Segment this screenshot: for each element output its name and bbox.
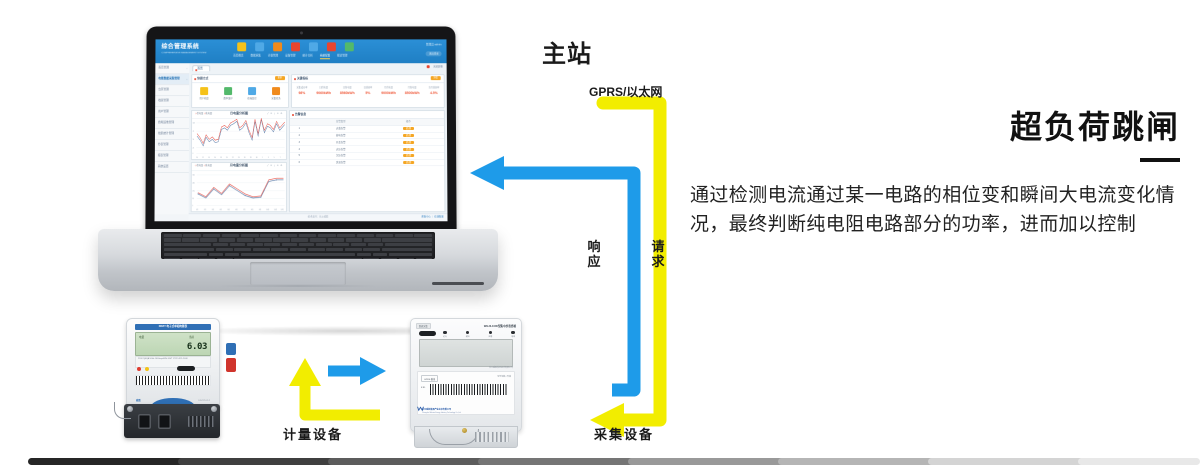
quick-action-3[interactable]: 采集任务 — [271, 87, 280, 100]
table-row[interactable]: 1过载告警处理 — [290, 125, 444, 132]
kpi-label-3: 日线损率 — [364, 87, 373, 90]
meter-cap-text: DDZY 电子式单相电能表 — [135, 324, 211, 330]
svg-text:28: 28 — [250, 157, 252, 159]
table-row[interactable]: 2掉电告警处理 — [290, 132, 444, 139]
keyboard-row — [161, 234, 435, 237]
svg-text:3月: 3月 — [212, 208, 215, 211]
sidebar-label-6: 线损统计管理 — [158, 132, 174, 135]
sidebar-label-4: 用户管理 — [158, 110, 169, 113]
meter-request-arrow-path — [305, 382, 380, 415]
meter-model: DDZY102-Z — [198, 400, 210, 402]
sidebar-item-8[interactable]: 报表管理 — [155, 151, 189, 162]
sidebar-item-2[interactable]: 台区管理 — [155, 85, 189, 96]
svg-text:10月: 10月 — [266, 208, 269, 211]
row-op-button-5[interactable]: 处理 — [403, 161, 414, 164]
metering-device-label: 计量设备 — [283, 424, 343, 443]
menu-item-4[interactable]: 统计分析 — [302, 54, 312, 59]
quick-card-more-button[interactable]: 更多 — [275, 76, 285, 80]
collector-seal-knob — [462, 428, 467, 433]
collector-barcode — [430, 384, 508, 395]
sidebar-label-7: 抄表管理 — [158, 143, 169, 146]
meter-leds — [137, 367, 149, 371]
row-no-2: 3 — [290, 139, 309, 146]
laptop-base — [98, 229, 498, 291]
dashboard-header: 综合管理系统 COMPREHENSIVE MANAGEMENT SYSTEM — [155, 39, 446, 63]
user-file-icon — [200, 87, 208, 95]
collector-label-plate: GPRS 模块 型号规格 / 合格 K ID 长沙威胜能源产业技术有限公司 Ch… — [417, 371, 515, 415]
kpi-2: 日售电量8560kWh — [340, 87, 355, 95]
kpi-0: 采集成功率98% — [296, 87, 307, 95]
tab-actions[interactable]: 关闭其他 — [427, 65, 443, 68]
dashboard-brand-sub: COMPREHENSIVE MANAGEMENT SYSTEM — [161, 52, 206, 55]
collector-body: 数据采集 WGJ3-1000型集中抄表终端 运行 通讯 告警 电源 长沙威胜信息… — [410, 318, 522, 432]
chart-icon — [248, 87, 256, 95]
phone-icon — [224, 87, 232, 95]
kpi-4: 月供电量9000kWh — [381, 87, 396, 95]
collector-ir-window — [419, 331, 436, 336]
bottom-bar-5 — [778, 458, 946, 465]
sidebar-item-7[interactable]: 抄表管理 — [155, 140, 189, 151]
quick-action-2[interactable]: 终端监控 — [247, 87, 256, 100]
row-op-3[interactable]: 处理 — [373, 146, 444, 153]
sidebar-item-0[interactable]: 首页管理‹ — [155, 63, 189, 74]
collection-device-label: 采集设备 — [594, 424, 654, 443]
row-op-0[interactable]: 处理 — [373, 125, 444, 132]
kpi-value-5: 8500kWh — [405, 91, 420, 95]
svg-text:25: 25 — [193, 147, 195, 149]
lcd-label-right: 当前 — [189, 335, 194, 339]
laptop-illustration: 综合管理系统 COMPREHENSIVE MANAGEMENT SYSTEM — [98, 26, 498, 316]
collector-terminal-block — [414, 426, 518, 448]
dashboard-menu[interactable]: 首页概览 数据采集 计量管理 设备管理 统计分析 系统配置 报表管理 — [233, 54, 347, 59]
close-icon[interactable] — [427, 65, 430, 68]
collector-company-sub: Changsha Wasion Energy Industry Technolo… — [422, 413, 461, 414]
svg-text:9月: 9月 — [259, 208, 262, 211]
master-station-label: 主站 — [542, 34, 592, 69]
bottom-bar-7 — [1078, 458, 1200, 465]
footer-right-links[interactable]: 帮助中心 ｜ 在线客服 — [421, 216, 443, 219]
row-op-button-2[interactable]: 处理 — [403, 141, 414, 144]
calendar-icon[interactable] — [273, 42, 282, 51]
kpi-label-5: 月售电量 — [405, 87, 420, 90]
laptop-screen: 综合管理系统 COMPREHENSIVE MANAGEMENT SYSTEM — [154, 39, 447, 221]
row-op-button-3[interactable]: 处理 — [403, 148, 414, 151]
svg-text:8月: 8月 — [251, 208, 254, 211]
headline-divider — [1140, 158, 1180, 162]
quick-label-2: 终端监控 — [247, 98, 256, 100]
collector-company: 长沙威胜能源产业技术有限公司 — [422, 408, 451, 411]
menu-item-2[interactable]: 计量管理 — [268, 54, 278, 59]
kpi-card-title: 关键指标 — [297, 77, 308, 80]
chart-daily-plot: 101214 161820 222426 28301 357 100 — [192, 118, 286, 159]
meter-request-arrowhead — [289, 358, 321, 386]
collector-cert-tag: 型号规格 / 合格 — [497, 375, 511, 378]
laptop-port — [432, 282, 484, 285]
footer-center-text: 技术支持：长沙威胜 — [308, 216, 329, 219]
row-no-0: 1 — [290, 125, 309, 132]
chevron-left-icon: ‹ — [186, 67, 187, 70]
quick-action-0[interactable]: 用户档案 — [200, 87, 209, 100]
collector-kd-text: K ID — [421, 387, 425, 389]
quick-label-1: 费率维护 — [223, 98, 232, 100]
kpi-value-0: 98% — [296, 91, 307, 95]
request-label: 请求 — [650, 240, 666, 269]
diagram-canvas: 综合管理系统 COMPREHENSIVE MANAGEMENT SYSTEM — [0, 0, 1200, 475]
dashboard-toolbar[interactable] — [237, 42, 354, 51]
quick-actions-card: 快捷方式 更多 用户档案 费率维护 终端监控 采集任务 — [191, 74, 289, 108]
sidebar-item-5[interactable]: 终端运维管理 — [155, 118, 189, 129]
svg-text:16: 16 — [214, 157, 216, 159]
chart-monthly-plot: 1月2月3月 4月5月6月 7月8月9月 10月11月12月 350260175 — [192, 170, 286, 211]
sidebar-item-3[interactable]: 档案管理 — [155, 96, 189, 107]
settings-icon[interactable] — [345, 42, 354, 51]
led-icon — [443, 331, 446, 334]
svg-text:260: 260 — [192, 182, 194, 184]
svg-text:5: 5 — [274, 157, 275, 159]
task-icon — [272, 87, 280, 95]
quick-actions-list[interactable]: 用户档案 费率维护 终端监控 采集任务 — [192, 83, 288, 100]
chart-daily-tools[interactable]: ⤢ ⟳ ⤓ ⊙ ⚙ — [267, 113, 283, 116]
chart-daily-svg: 101214 161820 222426 28301 357 100 — [192, 118, 286, 159]
svg-text:24: 24 — [238, 157, 240, 159]
dashboard-brand: 综合管理系统 — [161, 44, 199, 51]
alarm-card-header: 告警信息 — [290, 111, 444, 119]
bottom-gradient-bars — [0, 458, 1200, 465]
sidebar-label-8: 报表管理 — [158, 154, 169, 157]
led-icon — [511, 331, 514, 334]
indicator-label-0: 运行 — [443, 335, 447, 338]
dashboard-content: 快捷方式 更多 用户档案 费率维护 终端监控 采集任务 — [189, 72, 448, 214]
menu-item-6[interactable]: 报表管理 — [337, 54, 347, 59]
svg-text:18: 18 — [220, 157, 222, 159]
quick-label-3: 采集任务 — [271, 98, 280, 100]
bottom-bar-3 — [478, 458, 646, 465]
menu-item-0[interactable]: 首页概览 — [233, 54, 243, 59]
logout-button[interactable]: 退出登录 — [426, 51, 442, 56]
row-no-5: 6 — [290, 159, 309, 166]
svg-text:90: 90 — [192, 198, 194, 200]
collector-lcd-display — [419, 339, 513, 367]
gprs-module-tag: GPRS 模块 — [421, 375, 438, 382]
keyboard-row — [161, 243, 435, 246]
svg-text:7月: 7月 — [243, 208, 246, 211]
sidebar-item-9[interactable]: 系统设置 — [155, 162, 189, 173]
list-icon[interactable] — [291, 42, 300, 51]
mail-icon[interactable] — [327, 42, 336, 51]
headline-title: 超负荷跳闸 — [690, 110, 1180, 145]
laptop-trackpad — [250, 262, 346, 285]
svg-text:1: 1 — [262, 157, 263, 159]
indicator-2: 告警 — [488, 331, 492, 338]
indicator-1: 通讯 — [466, 331, 470, 338]
keyboard-row — [161, 253, 435, 256]
led-icon — [489, 331, 492, 334]
chart-monthly: ◇供电量 ◇售电量 月电量分析图 ⤢ ⟳ ⤓ ⊙ ⚙ — [191, 162, 287, 212]
dashboard-row-bottom: ◇供电量 ◇售电量 日电量分析图 ⤢ ⟳ ⤓ ⊙ ⚙ — [191, 110, 446, 212]
quick-card-title: 快捷方式 — [197, 77, 208, 80]
indicator-3: 电源 — [511, 331, 515, 338]
quick-label-0: 用户档案 — [200, 98, 209, 100]
meter-ir-window — [177, 366, 195, 371]
svg-text:1月: 1月 — [196, 208, 199, 211]
table-row[interactable]: 3开盖告警处理 — [290, 139, 444, 146]
collector-sub-text: 长沙威胜信息技术有限公司 — [489, 366, 513, 369]
sidebar-item-4[interactable]: 用户管理 — [155, 107, 189, 118]
svg-text:12: 12 — [202, 157, 204, 159]
svg-text:75: 75 — [193, 131, 195, 133]
laptop-lid: 综合管理系统 COMPREHENSIVE MANAGEMENT SYSTEM — [145, 26, 456, 234]
response-label: 响应 — [586, 240, 602, 269]
alarm-card-title: 告警信息 — [295, 113, 306, 116]
row-op-2[interactable]: 处理 — [373, 139, 444, 146]
kpi-label-0: 采集成功率 — [296, 87, 307, 90]
svg-text:50: 50 — [193, 139, 195, 141]
row-op-button-4[interactable]: 处理 — [403, 154, 414, 157]
collector-header: 数据采集 WGJ3-1000型集中抄表终端 — [416, 323, 516, 330]
meter-response-arrowhead — [360, 357, 386, 385]
meter-lcd-display: 电量 当前 6.03 — [135, 332, 211, 356]
indicator-0: 运行 — [443, 331, 447, 338]
row-op-button-0[interactable]: 处理 — [403, 127, 414, 130]
row-no-1: 2 — [290, 132, 309, 139]
kpi-label-6: 当月线损率 — [428, 87, 439, 90]
lcd-label-left: 电量 — [139, 335, 144, 339]
sidebar-label-9: 系统设置 — [158, 165, 169, 168]
svg-text:4月: 4月 — [220, 208, 223, 211]
alarm-table: 告警类型 操作 1过载告警处理 2掉电告警处理 3开盖告警处理 4过压告警处理 … — [290, 119, 444, 166]
svg-text:0: 0 — [192, 205, 193, 207]
row-type-0: 过载告警 — [309, 125, 373, 132]
keyboard-row — [161, 248, 435, 251]
kpi-label-2: 日售电量 — [340, 87, 355, 90]
laptop-keyboard — [161, 232, 435, 259]
svg-text:175: 175 — [192, 190, 194, 192]
svg-text:5月: 5月 — [227, 208, 230, 211]
clock-icon[interactable] — [309, 42, 318, 51]
indicator-label-2: 告警 — [488, 335, 492, 338]
chart-monthly-svg: 1月2月3月 4月5月6月 7月8月9月 10月11月12月 350260175 — [192, 170, 286, 211]
row-op-5[interactable]: 处理 — [373, 159, 444, 166]
led-icon — [466, 331, 469, 334]
keyboard-row — [161, 258, 435, 260]
collection-device: 数据采集 WGJ3-1000型集中抄表终端 运行 通讯 告警 电源 长沙威胜信息… — [402, 318, 530, 446]
row-type-3: 过压告警 — [309, 146, 373, 153]
meter-terminal-block — [124, 404, 220, 438]
meter-body: DDZY 电子式单相电能表 电量 当前 6.03 220V 5(60)A 50H… — [126, 318, 220, 408]
meter-red-button[interactable] — [226, 358, 236, 372]
kpi-value-4: 9000kWh — [381, 91, 396, 95]
tab-home[interactable]: 首页 — [192, 65, 210, 71]
svg-text:12月: 12月 — [281, 208, 284, 211]
currency-icon[interactable] — [237, 42, 246, 51]
meter-wire — [114, 402, 131, 419]
svg-text:22: 22 — [232, 157, 234, 159]
keyboard-row — [161, 238, 435, 241]
svg-text:100: 100 — [193, 123, 195, 125]
kpi-card-detail-button[interactable]: 详情 — [430, 76, 440, 80]
svg-text:26: 26 — [244, 157, 246, 159]
svg-text:30: 30 — [256, 157, 258, 159]
terminal-slot — [158, 414, 171, 429]
quick-card-header: 快捷方式 更多 — [192, 75, 288, 83]
meter-brand: 威胜 — [136, 398, 141, 402]
svg-text:20: 20 — [226, 157, 228, 159]
row-type-5: 失流告警 — [309, 159, 373, 166]
metering-device: DDZY 电子式单相电能表 电量 当前 6.03 220V 5(60)A 50H… — [112, 318, 236, 444]
sidebar-label-0: 首页管理 — [158, 67, 169, 70]
gprs-link-label: GPRS/以太网 — [589, 83, 662, 100]
headline-body: 通过检测电流通过某一电路的相位变和瞬间大电流变化情况，最终判断纯电阻电路部分的功… — [690, 182, 1180, 239]
close-others-link[interactable]: 关闭其他 — [433, 65, 443, 68]
kpi-card-header: 关键指标 详情 — [292, 75, 444, 83]
row-no-4: 5 — [290, 152, 309, 159]
sidebar-label-3: 档案管理 — [158, 99, 169, 102]
bottom-bar-0 — [28, 458, 196, 465]
table-row[interactable]: 5欠压告警处理 — [290, 152, 444, 159]
screw-icon — [211, 406, 217, 412]
kpi-1: 日供电量9060kWh — [316, 87, 331, 95]
row-op-4[interactable]: 处理 — [373, 152, 444, 159]
indicator-label-1: 通讯 — [466, 335, 470, 338]
table-row[interactable]: 6失流告警处理 — [290, 159, 444, 166]
indicator-label-3: 电源 — [511, 335, 515, 338]
sidebar-label-5: 终端运维管理 — [158, 121, 174, 124]
dashboard-footer: 技术支持：长沙威胜 帮助中心 ｜ 在线客服 — [189, 213, 448, 221]
kpi-label-1: 日供电量 — [316, 87, 331, 90]
quick-action-1[interactable]: 费率维护 — [223, 87, 232, 100]
kpi-list: 采集成功率98% 日供电量9060kWh 日售电量8560kWh 日线损率5% … — [292, 83, 444, 95]
row-type-4: 欠压告警 — [309, 152, 373, 159]
dashboard-sidebar[interactable]: 首页管理‹ 电能数据采集管理› 台区管理 档案管理 用户管理 终端运维管理 线损… — [155, 63, 191, 214]
kpi-value-2: 8560kWh — [340, 91, 355, 95]
chart-monthly-tools[interactable]: ⤢ ⟳ ⤓ ⊙ ⚙ — [267, 165, 283, 168]
kpi-value-3: 5% — [364, 91, 373, 95]
svg-text:0: 0 — [193, 153, 194, 155]
kpi-6: 当月线损率4.5% — [428, 87, 439, 95]
kpi-5: 月售电量8500kWh — [405, 87, 420, 95]
kpi-value-6: 4.5% — [428, 91, 439, 95]
bottom-bar-4 — [628, 458, 796, 465]
svg-text:2月: 2月 — [204, 208, 207, 211]
laptop-lip — [218, 285, 378, 287]
row-type-1: 掉电告警 — [309, 132, 373, 139]
charts-column: ◇供电量 ◇售电量 日电量分析图 ⤢ ⟳ ⤓ ⊙ ⚙ — [191, 110, 287, 212]
chevron-right-icon: › — [186, 78, 187, 81]
led-yellow-icon — [145, 367, 149, 371]
row-no-3: 4 — [290, 146, 309, 153]
menu-item-1[interactable]: 数据采集 — [251, 54, 261, 59]
row-type-2: 开盖告警 — [309, 139, 373, 146]
svg-text:14: 14 — [208, 157, 210, 159]
bottom-bar-1 — [178, 458, 346, 465]
collector-cable-loop — [429, 429, 479, 445]
led-red-icon — [137, 367, 141, 371]
svg-text:7: 7 — [280, 157, 281, 159]
meter-cap: DDZY 电子式单相电能表 — [135, 324, 211, 330]
collector-tag: 数据采集 — [416, 323, 431, 329]
sidebar-label-1: 电能数据采集管理 — [158, 77, 179, 80]
row-op-button-1[interactable]: 处理 — [403, 134, 414, 137]
kpi-3: 日线损率5% — [364, 87, 373, 95]
lcd-value: 6.03 — [187, 342, 207, 352]
table-row[interactable]: 4过压告警处理 — [290, 146, 444, 153]
collector-model: WGJ3-1000型集中抄表终端 — [484, 324, 516, 328]
sidebar-label-2: 台区管理 — [158, 88, 169, 91]
alarm-table-card: 告警信息 告警类型 操作 1过载告警处理 2掉电告警处理 — [289, 110, 445, 212]
headline-block: 超负荷跳闸 通过检测电流通过某一电路的相位变和瞬间大电流变化情况，最终判断纯电阻… — [690, 110, 1180, 239]
sidebar-item-6[interactable]: 线损统计管理 — [155, 129, 189, 140]
terminal-grid — [188, 416, 214, 427]
chart-daily: ◇供电量 ◇售电量 日电量分析图 ⤢ ⟳ ⤓ ⊙ ⚙ — [191, 110, 287, 160]
bottom-bar-2 — [328, 458, 496, 465]
row-op-1[interactable]: 处理 — [373, 132, 444, 139]
meter-blue-button[interactable] — [226, 343, 236, 355]
kpi-value-1: 9060kWh — [316, 91, 331, 95]
dashboard-app: 综合管理系统 COMPREHENSIVE MANAGEMENT SYSTEM — [154, 39, 447, 221]
collector-terminal-grid — [475, 432, 509, 442]
svg-text:350: 350 — [192, 175, 194, 177]
menu-item-3[interactable]: 设备管理 — [285, 54, 295, 59]
svg-text:10: 10 — [196, 157, 198, 159]
svg-text:6月: 6月 — [235, 208, 238, 211]
collector-indicators: 运行 通讯 告警 电源 — [443, 331, 515, 338]
kpi-card: 关键指标 详情 采集成功率98% 日供电量9060kWh 日售电量8560kWh… — [291, 74, 445, 108]
sidebar-item-1[interactable]: 电能数据采集管理› — [155, 74, 189, 85]
user-label: 管理员 admin — [426, 43, 442, 46]
dashboard-row-top: 快捷方式 更多 用户档案 费率维护 终端监控 采集任务 — [191, 74, 445, 108]
bottom-bar-6 — [928, 458, 1096, 465]
kpi-label-4: 月供电量 — [381, 87, 396, 90]
svg-text:3: 3 — [268, 157, 269, 159]
menu-item-5[interactable]: 系统配置 — [320, 54, 330, 59]
terminal-slot — [138, 414, 151, 429]
edit-icon[interactable] — [255, 42, 264, 51]
svg-text:11月: 11月 — [274, 208, 277, 211]
meter-barcode — [135, 375, 211, 386]
